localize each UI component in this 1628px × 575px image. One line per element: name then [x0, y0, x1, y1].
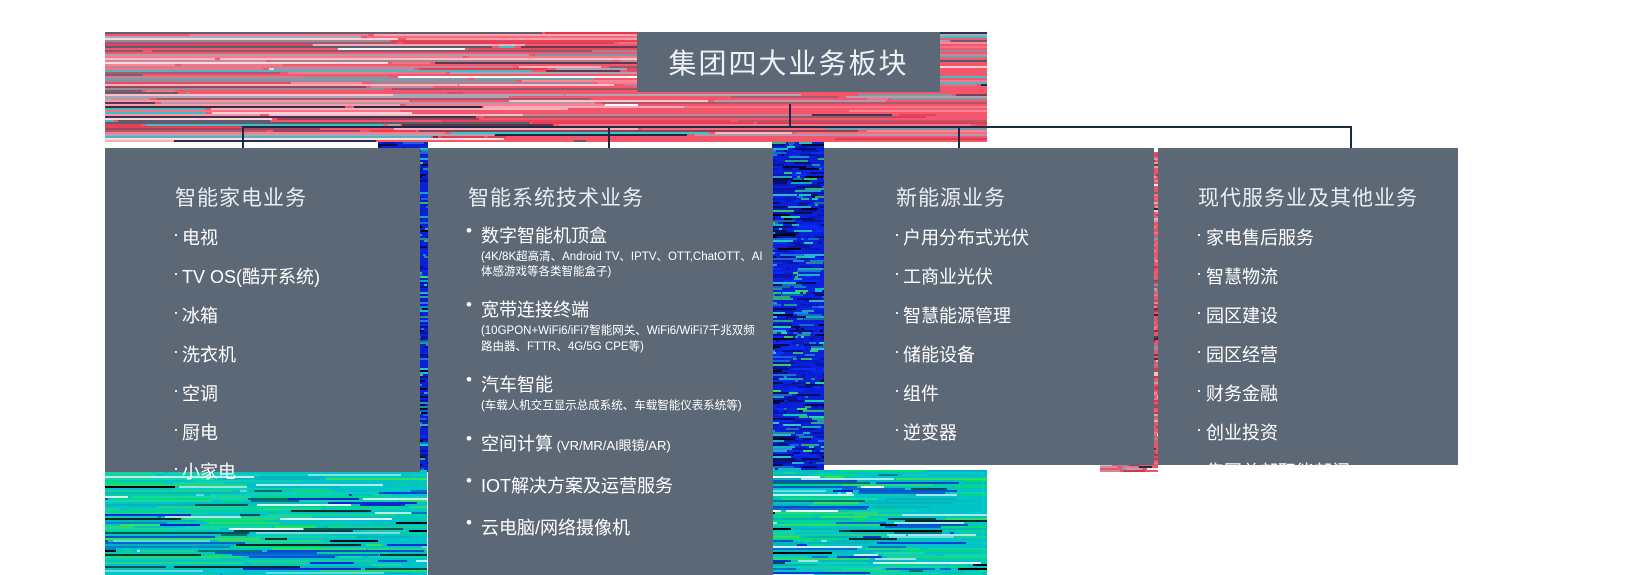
list-item[interactable]: ·洗衣机: [173, 341, 320, 367]
list-item[interactable]: ·储能设备: [894, 341, 1029, 367]
white-backdrop: [987, 32, 1628, 152]
panel-3-heading: 新能源业务: [896, 182, 1006, 212]
list-item-body: 创业投资: [1206, 419, 1350, 445]
bullet-icon: •: [466, 514, 472, 532]
list-item-body: IOT解决方案及运营服务: [481, 472, 766, 498]
panel-1-heading: 智能家电业务: [175, 182, 307, 212]
bullet-icon: •: [466, 371, 472, 389]
list-item[interactable]: ·工商业光伏: [894, 263, 1029, 289]
slide-title-bar: 集团四大业务板块: [637, 32, 940, 92]
list-item-label: 空间计算 (VR/MR/AI眼镜/AR): [481, 430, 766, 456]
bullet-icon: ·: [894, 341, 900, 362]
list-item-body: 智慧能源管理: [903, 302, 1029, 328]
list-item-detail: (10GPON+WiFi6/iFi7智能网关、WiFi6/WiFi7千兆双频路由…: [481, 324, 766, 354]
list-item-label: 云电脑/网络摄像机: [481, 514, 766, 540]
bullet-icon: ·: [173, 458, 179, 479]
connector-branch-2: [608, 126, 610, 148]
list-item-label: 创业投资: [1206, 419, 1350, 445]
list-item-body: 园区建设: [1206, 302, 1350, 328]
list-item[interactable]: ·电视: [173, 224, 320, 250]
list-item[interactable]: ·组件: [894, 380, 1029, 406]
bullet-icon: ·: [173, 419, 179, 440]
list-item-label: 工商业光伏: [903, 263, 1029, 289]
bullet-icon: ·: [894, 380, 900, 401]
list-item[interactable]: ·逆变器: [894, 419, 1029, 445]
list-item-label: 智慧能源管理: [903, 302, 1029, 328]
page-title: 集团四大业务板块: [668, 42, 908, 82]
list-item[interactable]: •空间计算 (VR/MR/AI眼镜/AR): [466, 430, 766, 456]
list-item-body: 财务金融: [1206, 380, 1350, 406]
glitch-artwork-bottom-right: [772, 470, 987, 575]
list-item[interactable]: ·财务金融: [1196, 380, 1350, 406]
bullet-icon: ·: [1196, 419, 1202, 440]
list-item-body: 数字智能机顶盒(4K/8K超高清、Android TV、IPTV、OTT,Cha…: [481, 222, 766, 280]
list-item[interactable]: ·智慧能源管理: [894, 302, 1029, 328]
list-item-label: 冰箱: [182, 302, 320, 328]
list-item-label: 组件: [903, 380, 1029, 406]
list-item-label: 空调: [182, 380, 320, 406]
bullet-icon: ·: [173, 302, 179, 323]
bullet-icon: ·: [894, 263, 900, 284]
list-item[interactable]: ·园区经营: [1196, 341, 1350, 367]
list-item[interactable]: ·家电售后服务: [1196, 224, 1350, 250]
panel-smart-system-technology[interactable]: 智能系统技术业务 •数字智能机顶盒(4K/8K超高清、Android TV、IP…: [428, 148, 773, 575]
list-item-body: 储能设备: [903, 341, 1029, 367]
list-item-label: 园区建设: [1206, 302, 1350, 328]
bullet-icon: ·: [894, 224, 900, 245]
list-item-body: 小家电: [182, 458, 320, 484]
bullet-icon: •: [466, 222, 472, 240]
connector-horizontal-left: [242, 126, 960, 128]
list-item[interactable]: ·户用分布式光伏: [894, 224, 1029, 250]
list-item[interactable]: ·TV OS(酷开系统): [173, 263, 320, 289]
bullet-icon: •: [466, 472, 472, 490]
list-item-body: TV OS(酷开系统): [182, 263, 320, 289]
glitch-rows: [772, 470, 987, 575]
list-item-body: 宽带连接终端(10GPON+WiFi6/iFi7智能网关、WiFi6/WiFi7…: [481, 296, 766, 354]
list-item-body: 集团总部职能部门: [1206, 458, 1350, 484]
list-item[interactable]: ·园区建设: [1196, 302, 1350, 328]
panel-modern-services-other[interactable]: 现代服务业及其他业务 ·家电售后服务·智慧物流·园区建设·园区经营·财务金融·创…: [1158, 148, 1458, 465]
bullet-icon: ·: [173, 224, 179, 245]
slide-canvas: 集团四大业务板块 智能家电业务 ·电视·TV OS(酷开系统)·冰箱·洗衣机·空…: [0, 0, 1628, 575]
list-item[interactable]: •数字智能机顶盒(4K/8K超高清、Android TV、IPTV、OTT,Ch…: [466, 222, 766, 280]
panel-new-energy[interactable]: 新能源业务 ·户用分布式光伏·工商业光伏·智慧能源管理·储能设备·组件·逆变器: [824, 148, 1154, 465]
list-item-label: IOT解决方案及运营服务: [481, 472, 766, 498]
list-item-body: 冰箱: [182, 302, 320, 328]
list-item-body: 云电脑/网络摄像机: [481, 514, 766, 540]
glitch-artwork-gap-2: [772, 142, 824, 472]
panel-1-item-list: ·电视·TV OS(酷开系统)·冰箱·洗衣机·空调·厨电·小家电: [173, 224, 320, 497]
list-item-label: 汽车智能: [481, 371, 766, 397]
list-item-label: 小家电: [182, 458, 320, 484]
list-item[interactable]: ·集团总部职能部门: [1196, 458, 1350, 484]
bullet-icon: ·: [173, 263, 179, 284]
bullet-icon: ·: [173, 341, 179, 362]
list-item-label: 智慧物流: [1206, 263, 1350, 289]
list-item-detail: (4K/8K超高清、Android TV、IPTV、OTT,ChatOTT、AI…: [481, 250, 766, 280]
list-item-body: 家电售后服务: [1206, 224, 1350, 250]
connector-stem: [789, 104, 791, 128]
list-item-label: 集团总部职能部门: [1206, 458, 1350, 484]
list-item-label: 财务金融: [1206, 380, 1350, 406]
list-item-label: 洗衣机: [182, 341, 320, 367]
list-item[interactable]: ·小家电: [173, 458, 320, 484]
list-item[interactable]: •IOT解决方案及运营服务: [466, 472, 766, 498]
connector-branch-3: [958, 126, 960, 148]
list-item-body: 工商业光伏: [903, 263, 1029, 289]
list-item[interactable]: •云电脑/网络摄像机: [466, 514, 766, 540]
list-item-body: 汽车智能(车载人机交互显示总成系统、车载智能仪表系统等): [481, 371, 766, 414]
connector-branch-1: [242, 126, 244, 148]
panel-4-item-list: ·家电售后服务·智慧物流·园区建设·园区经营·财务金融·创业投资·集团总部职能部…: [1196, 224, 1350, 497]
list-item[interactable]: •宽带连接终端(10GPON+WiFi6/iFi7智能网关、WiFi6/WiFi…: [466, 296, 766, 354]
bullet-icon: ·: [894, 419, 900, 440]
bullet-icon: ·: [1196, 341, 1202, 362]
list-item-label: 宽带连接终端: [481, 296, 766, 322]
list-item-label: 电视: [182, 224, 320, 250]
bullet-icon: •: [466, 296, 472, 314]
bullet-icon: ·: [1196, 380, 1202, 401]
panel-3-item-list: ·户用分布式光伏·工商业光伏·智慧能源管理·储能设备·组件·逆变器: [894, 224, 1029, 458]
list-item[interactable]: ·创业投资: [1196, 419, 1350, 445]
list-item-body: 逆变器: [903, 419, 1029, 445]
glitch-rows: [772, 142, 824, 472]
panel-smart-home-appliance[interactable]: 智能家电业务 ·电视·TV OS(酷开系统)·冰箱·洗衣机·空调·厨电·小家电: [105, 148, 420, 472]
list-item-body: 厨电: [182, 419, 320, 445]
bullet-icon: ·: [894, 302, 900, 323]
list-item-label: 家电售后服务: [1206, 224, 1350, 250]
bullet-icon: ·: [1196, 458, 1202, 479]
bullet-icon: ·: [173, 380, 179, 401]
connector-horizontal-right: [958, 126, 1352, 128]
list-item-body: 户用分布式光伏: [903, 224, 1029, 250]
list-item-body: 电视: [182, 224, 320, 250]
list-item[interactable]: ·厨电: [173, 419, 320, 445]
bullet-icon: ·: [1196, 302, 1202, 323]
bullet-icon: •: [466, 430, 472, 448]
list-item[interactable]: ·空调: [173, 380, 320, 406]
panel-2-heading: 智能系统技术业务: [468, 182, 644, 212]
list-item[interactable]: ·冰箱: [173, 302, 320, 328]
list-item-detail: (车载人机交互显示总成系统、车载智能仪表系统等): [481, 399, 766, 414]
list-item-body: 洗衣机: [182, 341, 320, 367]
list-item-body: 组件: [903, 380, 1029, 406]
list-item[interactable]: •汽车智能(车载人机交互显示总成系统、车载智能仪表系统等): [466, 371, 766, 414]
list-item-body: 空间计算 (VR/MR/AI眼镜/AR): [481, 430, 766, 456]
list-item-label: 储能设备: [903, 341, 1029, 367]
bullet-icon: ·: [1196, 224, 1202, 245]
list-item-label: 逆变器: [903, 419, 1029, 445]
list-item-label: 厨电: [182, 419, 320, 445]
list-item-inline-note: (VR/MR/AI眼镜/AR): [553, 438, 671, 453]
list-item-label: 数字智能机顶盒: [481, 222, 766, 248]
list-item-label: 园区经营: [1206, 341, 1350, 367]
bullet-icon: ·: [1196, 263, 1202, 284]
list-item-body: 园区经营: [1206, 341, 1350, 367]
list-item-label: 户用分布式光伏: [903, 224, 1029, 250]
list-item[interactable]: ·智慧物流: [1196, 263, 1350, 289]
list-item-body: 空调: [182, 380, 320, 406]
panel-2-item-list: •数字智能机顶盒(4K/8K超高清、Android TV、IPTV、OTT,Ch…: [466, 222, 766, 556]
panel-4-heading: 现代服务业及其他业务: [1198, 182, 1418, 212]
list-item-body: 智慧物流: [1206, 263, 1350, 289]
list-item-label: TV OS(酷开系统): [182, 263, 320, 289]
